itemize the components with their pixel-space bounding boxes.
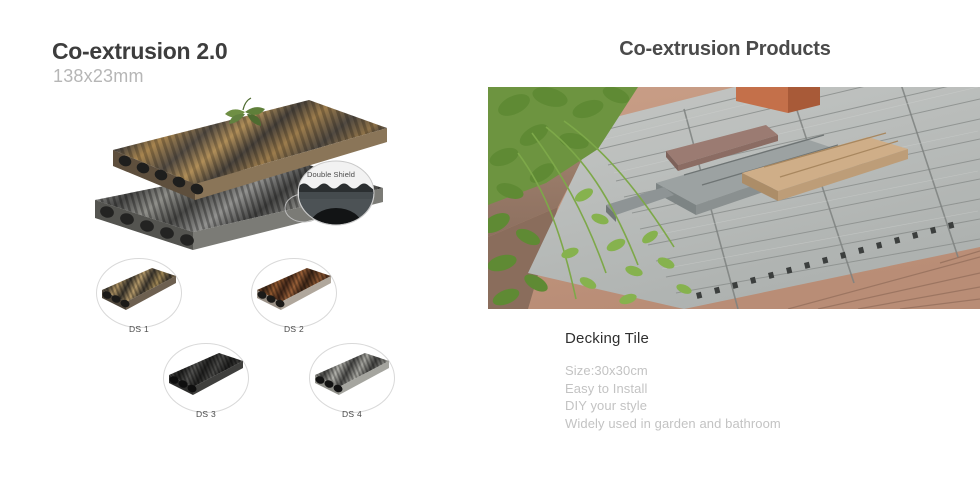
swatch-profile-ds3 [167, 347, 245, 399]
color-swatch-ds2[interactable]: DS 2 [251, 258, 337, 342]
feature-line-diy: DIY your style [565, 397, 781, 415]
left-panel: Co-extrusion 2.0 138x23mm Color Option [0, 0, 470, 500]
color-swatch-ds3[interactable]: DS 3 [163, 343, 249, 427]
color-swatch-ds1[interactable]: DS 1 [96, 258, 182, 342]
swatch-label: DS 4 [309, 409, 395, 419]
double-shield-label: Double Shield [307, 170, 355, 179]
feature-line-size: Size:30x30cm [565, 362, 781, 380]
swatch-label: DS 3 [163, 409, 249, 419]
right-panel: Co-extrusion Products [470, 0, 980, 500]
slide-canvas: Co-extrusion 2.0 138x23mm Color Option [0, 0, 980, 500]
products-title: Co-extrusion Products [470, 38, 980, 61]
caption-feature-list: Size:30x30cm Easy to Install DIY your st… [565, 362, 781, 432]
swatch-profile-ds1 [100, 262, 178, 314]
page-title: Co-extrusion 2.0 [52, 38, 227, 65]
color-swatch-ds4[interactable]: DS 4 [309, 343, 395, 427]
feature-line-install: Easy to Install [565, 380, 781, 398]
feature-line-usage: Widely used in garden and bathroom [565, 415, 781, 433]
swatch-profile-ds2 [255, 262, 333, 314]
caption-title: Decking Tile [565, 330, 649, 347]
decking-tile-photo [488, 87, 980, 309]
swatch-profile-ds4 [313, 347, 391, 399]
swatch-label: DS 1 [96, 324, 182, 334]
swatch-label: DS 2 [251, 324, 337, 334]
